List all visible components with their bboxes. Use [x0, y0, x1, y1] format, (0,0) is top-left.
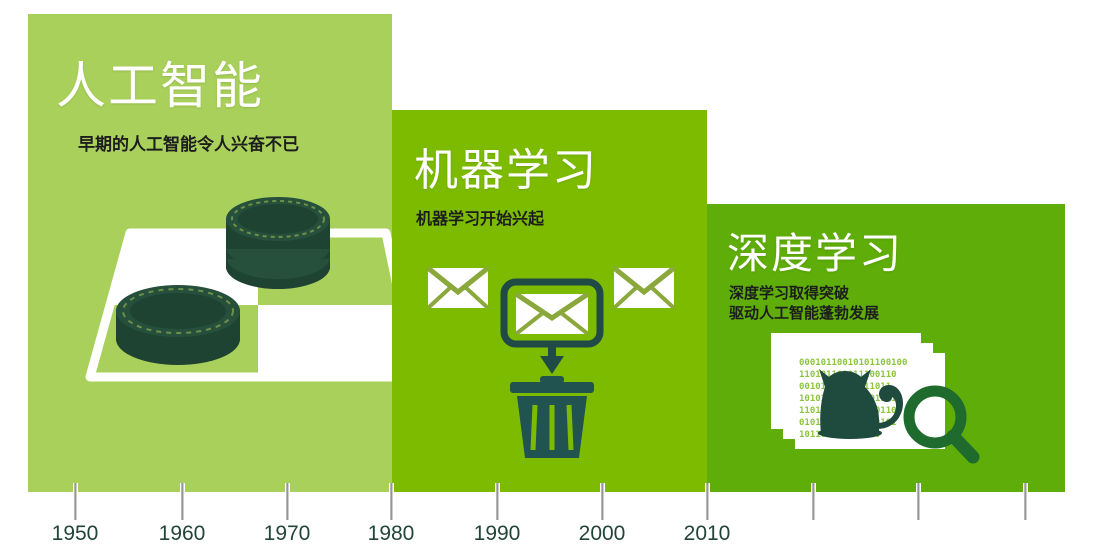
envelope-right: [614, 268, 674, 308]
timeline-label-2010: 2010: [684, 522, 731, 546]
timeline-label-2000: 2000: [579, 522, 626, 546]
timeline-tick-1990: [495, 483, 500, 520]
timeline-tick-2000: [600, 483, 605, 520]
envelope-left: [428, 268, 488, 308]
era-title-ml: 机器学习: [414, 134, 598, 198]
infographic-canvas: 人工智能 早期的人工智能令人兴奋不已: [0, 0, 1095, 557]
timeline-label-1960: 1960: [159, 522, 206, 546]
spam-filter-icon: [422, 260, 682, 465]
era-subtitle-ai: 早期的人工智能令人兴奋不已: [78, 130, 299, 155]
timeline-label-1980: 1980: [368, 522, 415, 546]
era-subtitle-dl-line1: 深度学习取得突破: [729, 284, 879, 304]
era-title-dl: 深度学习: [727, 220, 903, 281]
timeline-tick-1970: [285, 483, 290, 520]
svg-text:00010110010101100100: 00010110010101100100: [799, 358, 907, 368]
timeline-label-1950: 1950: [52, 522, 99, 546]
era-subtitle-ml: 机器学习开始兴起: [416, 205, 544, 229]
timeline-label-1990: 1990: [474, 522, 521, 546]
era-panel-ml: 机器学习 机器学习开始兴起: [392, 110, 707, 492]
era-panel-dl: 深度学习 深度学习取得突破 驱动人工智能蓬勃发展 000101100101011…: [707, 204, 1065, 492]
era-title-ai: 人工智能: [56, 46, 264, 118]
envelope-flagged: [504, 282, 600, 344]
timeline-label-1970: 1970: [264, 522, 311, 546]
timeline-axis: 1950196019701980199020002010: [0, 483, 1095, 557]
era-subtitle-dl: 深度学习取得突破 驱动人工智能蓬勃发展: [729, 284, 879, 324]
era-subtitle-dl-line2: 驱动人工智能蓬勃发展: [729, 304, 879, 324]
timeline-tick-1960: [180, 483, 185, 520]
timeline-tick-2010: [705, 483, 710, 520]
cat-recognition-icon: 00010110010101100100 110101101011100110 …: [767, 329, 1007, 469]
timeline-tick-1980: [389, 483, 394, 520]
timeline-tick-unlabeled-7: [811, 483, 816, 520]
timeline-tick-1950: [73, 483, 78, 520]
era-panel-ai: 人工智能 早期的人工智能令人兴奋不已: [28, 14, 392, 492]
checkers-board-icon: [68, 189, 392, 389]
timeline-tick-unlabeled-9: [1023, 483, 1028, 520]
trash-can-icon: [510, 376, 594, 458]
timeline-tick-unlabeled-8: [916, 483, 921, 520]
